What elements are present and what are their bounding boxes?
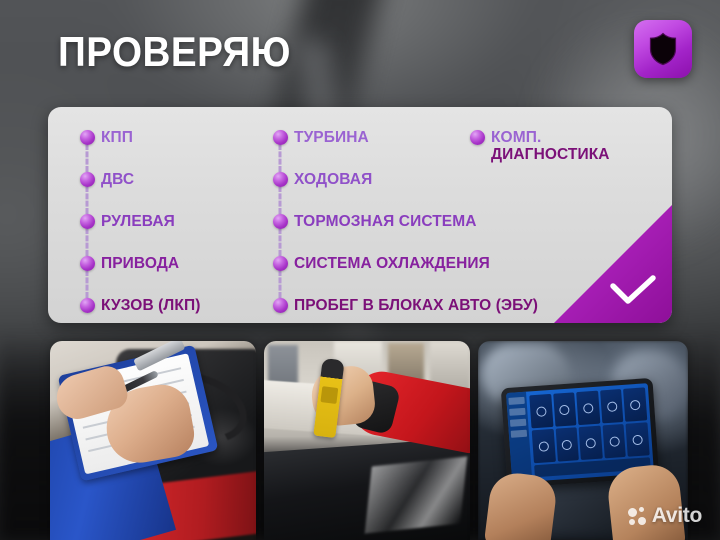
list-item-label-line1: КОМП. (491, 129, 610, 146)
shield-badge (634, 20, 692, 78)
list-item-label: ТУРБИНА (294, 126, 369, 146)
list-item[interactable]: ДВС (73, 168, 200, 203)
list-item[interactable]: СИСТЕМА ОХЛАЖДЕНИЯ (266, 252, 538, 287)
list-item[interactable]: ХОДОВАЯ (266, 168, 538, 203)
list-item-label: КОМП. ДИАГНОСТИКА (491, 126, 610, 163)
poster-canvas: ПРОВЕРЯЮ КПП (0, 0, 720, 540)
list-item-label: ХОДОВАЯ (294, 168, 372, 188)
shield-icon (648, 32, 678, 66)
list-item[interactable]: КОМП. ДИАГНОСТИКА (463, 126, 610, 161)
checklist-column-3: КОМП. ДИАГНОСТИКА (463, 126, 610, 161)
avito-dots-icon (628, 507, 647, 526)
bullet-dot-icon (266, 126, 294, 145)
avito-wordmark: Avito (652, 504, 702, 528)
list-item-label: КУЗОВ (ЛКП) (101, 294, 200, 314)
list-item[interactable]: ПРОБЕГ В БЛОКАХ АВТО (ЭБУ) (266, 294, 538, 323)
list-item-label: КПП (101, 126, 133, 146)
list-item[interactable]: ПРИВОДА (73, 252, 200, 287)
list-item-label: СИСТЕМА ОХЛАЖДЕНИЯ (294, 252, 490, 272)
list-item-label: ДВС (101, 168, 134, 188)
checklist-column-1: КПП ДВС РУЛЕВАЯ (73, 126, 200, 323)
bullet-dot-icon (73, 126, 101, 145)
list-item-label: ПРИВОДА (101, 252, 179, 272)
list-item[interactable]: ТОРМОЗНАЯ СИСТЕМА (266, 210, 538, 245)
page-title: ПРОВЕРЯЮ (58, 28, 291, 76)
photo-mechanic-clipboard (50, 341, 256, 540)
bullet-dot-icon (463, 126, 491, 145)
photo-paint-thickness-gauge (264, 341, 470, 540)
list-item[interactable]: РУЛЕВАЯ (73, 210, 200, 245)
avito-watermark: Avito (628, 504, 702, 528)
photo-strip (0, 341, 720, 540)
checklist-card: КПП ДВС РУЛЕВАЯ (48, 107, 672, 323)
list-item-label: РУЛЕВАЯ (101, 210, 175, 230)
list-item-label: ПРОБЕГ В БЛОКАХ АВТО (ЭБУ) (294, 294, 538, 314)
list-item-label: ТОРМОЗНАЯ СИСТЕМА (294, 210, 477, 230)
list-item[interactable]: КПП (73, 126, 200, 161)
list-item-label-line2: ДИАГНОСТИКА (491, 146, 610, 163)
checkmark-icon (610, 275, 656, 305)
list-item[interactable]: КУЗОВ (ЛКП) (73, 294, 200, 323)
checklist-columns: КПП ДВС РУЛЕВАЯ (48, 107, 672, 323)
